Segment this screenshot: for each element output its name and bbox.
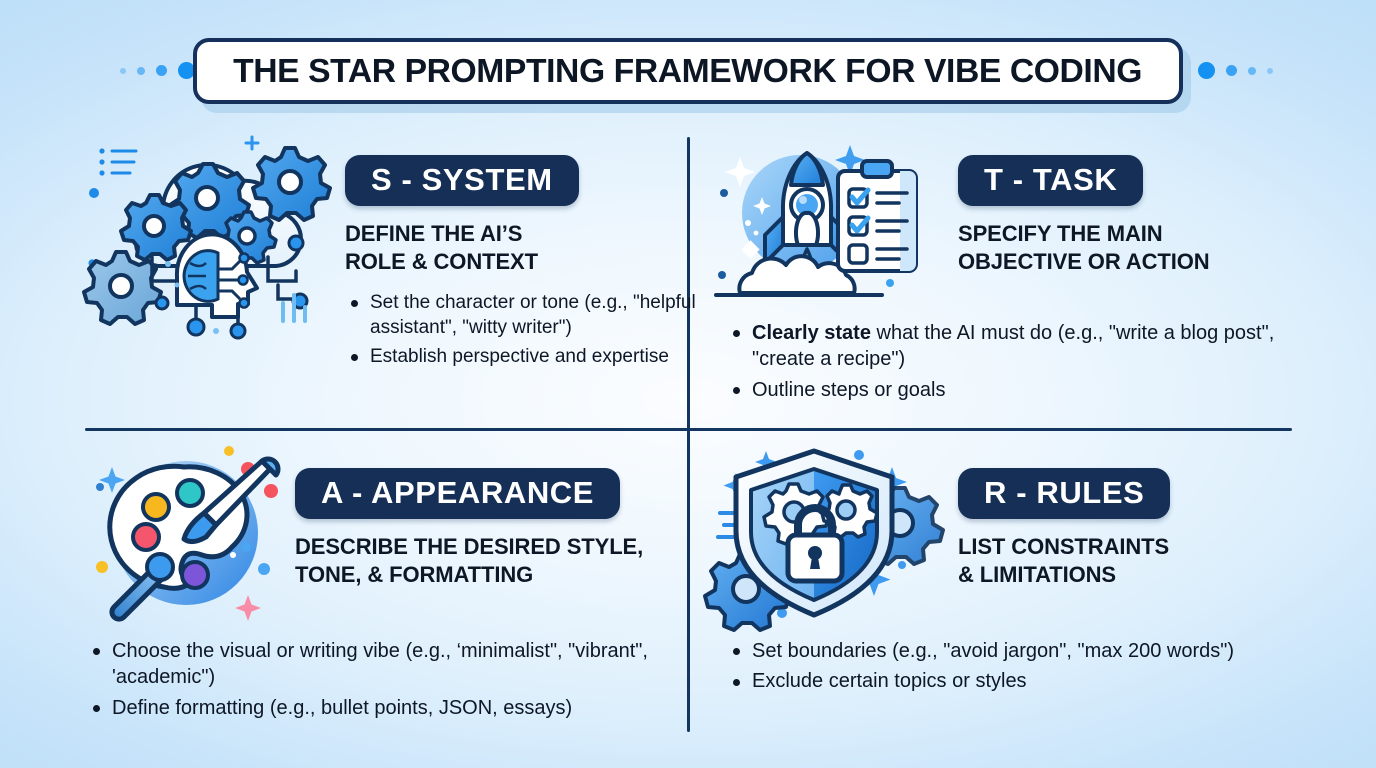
list-item: Establish perspective and expertise: [348, 344, 708, 369]
list-item: Clearly state what the AI must do (e.g.,…: [730, 320, 1310, 373]
list-item: Define formatting (e.g., bullet points, …: [90, 695, 680, 721]
task-pill-label: T - TASK: [958, 155, 1143, 206]
appearance-subheading: DESCRIBE THE DESIRED STYLE, TONE, & FORM…: [295, 533, 690, 589]
page-title: THE STAR PROMPTING FRAMEWORK FOR VIBE CO…: [234, 52, 1143, 90]
list-item: Outline steps or goals: [730, 377, 1310, 403]
task-heading-column: T - TASK SPECIFY THE MAIN OBJECTIVE OR A…: [958, 155, 1318, 276]
appearance-heading-column: A - APPEARANCE DESCRIBE THE DESIRED STYL…: [295, 468, 690, 589]
list-item: Set the character or tone (e.g., "helpfu…: [348, 290, 708, 340]
quadrant-system: S - SYSTEM DEFINE THE AI’S ROLE & CONTEX…: [70, 130, 680, 415]
decorative-dots-right: [1198, 62, 1273, 79]
list-item: Set boundaries (e.g., "avoid jargon", "m…: [730, 638, 1310, 664]
infographic-canvas: THE STAR PROMPTING FRAMEWORK FOR VIBE CO…: [0, 0, 1376, 768]
system-heading-column: S - SYSTEM DEFINE THE AI’S ROLE & CONTEX…: [345, 155, 675, 276]
title-banner-box: THE STAR PROMPTING FRAMEWORK FOR VIBE CO…: [193, 38, 1183, 104]
decorative-dots-left: [120, 62, 195, 79]
system-bullet-list: Set the character or tone (e.g., "helpfu…: [348, 290, 708, 373]
appearance-subheading-line1: DESCRIBE THE DESIRED STYLE,: [295, 533, 690, 561]
bullet-text: Choose the visual or writing vibe (e.g.,…: [112, 640, 648, 688]
task-bullet-list: Clearly state what the AI must do (e.g.,…: [730, 320, 1310, 407]
rules-subheading-line2: & LIMITATIONS: [958, 561, 1318, 589]
bullet-text: Define formatting (e.g., bullet points, …: [112, 697, 572, 719]
bullet-text: Set the character or tone (e.g., "helpfu…: [370, 292, 696, 338]
task-subheading: SPECIFY THE MAIN OBJECTIVE OR ACTION: [958, 220, 1318, 276]
system-subheading-line2: ROLE & CONTEXT: [345, 248, 675, 276]
list-item: Choose the visual or writing vibe (e.g.,…: [90, 638, 680, 691]
rules-subheading: LIST CONSTRAINTS & LIMITATIONS: [958, 533, 1318, 589]
appearance-subheading-line2: TONE, & FORMATTING: [295, 561, 690, 589]
title-banner: THE STAR PROMPTING FRAMEWORK FOR VIBE CO…: [193, 38, 1183, 104]
appearance-pill-label: A - APPEARANCE: [295, 468, 620, 519]
rules-subheading-line1: LIST CONSTRAINTS: [958, 533, 1318, 561]
system-pill-label: S - SYSTEM: [345, 155, 579, 206]
rules-heading-column: R - RULES LIST CONSTRAINTS & LIMITATIONS: [958, 468, 1318, 589]
rules-pill-label: R - RULES: [958, 468, 1170, 519]
task-subheading-line1: SPECIFY THE MAIN: [958, 220, 1318, 248]
shield-lock-gears-icon: [714, 445, 929, 625]
paint-palette-brush-icon: [88, 445, 284, 625]
bullet-text: Establish perspective and expertise: [370, 346, 669, 367]
cloud-ai-brain-gears-icon: [78, 135, 336, 350]
bullet-text: Exclude certain topics or styles: [752, 670, 1027, 692]
appearance-bullet-list: Choose the visual or writing vibe (e.g.,…: [90, 638, 680, 725]
vertical-divider: [687, 137, 690, 732]
rules-bullet-list: Set boundaries (e.g., "avoid jargon", "m…: [730, 638, 1310, 699]
quadrant-rules: R - RULES LIST CONSTRAINTS & LIMITATIONS…: [700, 440, 1320, 740]
bullet-text: Set boundaries (e.g., "avoid jargon", "m…: [752, 640, 1234, 662]
list-item: Exclude certain topics or styles: [730, 668, 1310, 694]
bullet-lead: Clearly state: [752, 322, 871, 344]
rocket-clipboard-checklist-icon: [710, 135, 928, 315]
system-subheading-line1: DEFINE THE AI’S: [345, 220, 675, 248]
system-subheading: DEFINE THE AI’S ROLE & CONTEXT: [345, 220, 675, 276]
task-subheading-line2: OBJECTIVE OR ACTION: [958, 248, 1318, 276]
quadrant-task: T - TASK SPECIFY THE MAIN OBJECTIVE OR A…: [700, 130, 1320, 415]
bullet-text: Outline steps or goals: [752, 379, 945, 401]
quadrant-appearance: A - APPEARANCE DESCRIBE THE DESIRED STYL…: [70, 440, 680, 740]
